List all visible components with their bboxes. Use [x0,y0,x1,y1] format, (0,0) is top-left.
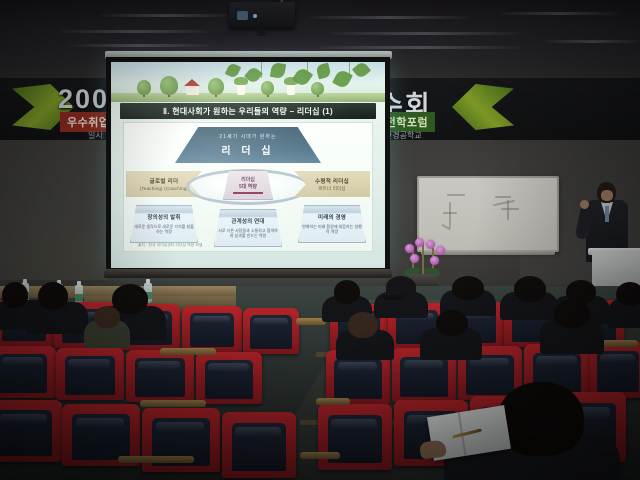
slide-core-box: 리더십 5대 역량 [223,170,273,200]
roof-subtitle: 21세기 시대가 원하는 [219,133,276,140]
orchid-bloom [436,246,445,255]
core-line-1: 리더십 [241,176,255,183]
armrest [316,398,350,405]
seat[interactable] [0,400,62,462]
side-box-right-sub: 파트너 리더십 [318,186,346,192]
seat[interactable] [243,308,299,354]
bottom-box-2-heading: 관계성의 연대 [231,217,264,225]
projector-mount [257,28,265,36]
whiteboard [417,176,559,252]
orchid-bloom [415,238,424,247]
projector-lens [237,11,248,20]
slide-bottom-row: 창의성의 발휘 새로운 생각으로 새로운 가치를 창출하는 역량 관계성의 연대… [124,199,372,243]
lecture-hall-photo: 200 수회 우수취업사례 공전학포럼 일시: 2009. 1 학교 한경공학교 [0,0,640,480]
slide-bottom-box-1: 창의성의 발휘 새로운 생각으로 새로운 가치를 창출하는 역량 [130,205,198,243]
seat[interactable] [222,412,296,478]
presenter-tie [605,206,609,222]
armrest [118,456,194,463]
screen-bottom-bar [104,269,392,278]
armrest [140,400,206,407]
orchid-bloom [426,240,435,249]
seat[interactable] [318,404,392,470]
core-line-2: 5대 역량 [239,183,257,190]
roof-heading: 리 더 십 [221,142,274,157]
bottom-box-2-sub: 서로 다른 사람들과 소통하고 협력하여 성과를 만드는 역량 [215,228,281,239]
slide-header-decoration [111,62,385,102]
slide-title: Ⅱ. 현대사회가 원하는 우리들의 역량 – 리더십 (1) [120,103,376,119]
seat[interactable] [182,306,242,352]
orchid-bloom [430,256,439,265]
presenter-face [601,190,613,201]
side-box-left-heading: 글로벌 리더 [150,177,179,185]
armrest [300,452,340,459]
side-box-right-heading: 수평적 리더십 [315,177,349,185]
core-underline [233,192,263,194]
ceiling-projector [229,2,295,28]
bottom-box-3-sub: 변화하는 미래 환경에 대응하는 실행적 역량 [299,224,365,235]
slide-roof-banner: 21세기 시대가 원하는 리 더 십 [175,127,321,163]
slide-middle-row: 글로벌 리더 (Teaching) (Coaching) 리더십 5대 역량 수… [124,167,372,201]
orchid-bloom [410,254,419,263]
slide-bottom-box-3: 미래의 경영 변화하는 미래 환경에 대응하는 실행적 역량 [298,205,366,243]
banner-year-text: 200 [58,84,109,115]
projection-screen: Ⅱ. 현대사회가 원하는 우리들의 역량 – 리더십 (1) 21세기 시대가 … [106,57,390,273]
baseball-cap [386,276,416,298]
seat[interactable] [196,352,262,404]
seat[interactable] [126,350,194,402]
bottom-box-1-heading: 창의성의 발휘 [147,213,180,221]
slide-bottom-box-2: 관계성의 연대 서로 다른 사람들과 소통하고 협력하여 성과를 만드는 역량 [214,209,282,247]
orchid-bloom [405,244,414,253]
seat[interactable] [0,346,56,398]
banner-logo-right [452,84,514,130]
side-box-left-sub: (Teaching) (Coaching) [140,186,188,191]
slide-body: 21세기 시대가 원하는 리 더 십 글로벌 리더 (Teaching) (Co… [123,122,373,252]
presenter-hand [580,200,589,209]
armrest [160,348,216,355]
wall-panel-left [0,130,108,280]
bottom-box-3-heading: 미래의 경영 [318,213,346,221]
seat[interactable] [56,348,124,400]
slide-footnote: 출처 : 한국 리더십센터 리더십 역량 모델 [138,243,203,248]
presentation-slide: Ⅱ. 현대사회가 원하는 우리들의 역량 – 리더십 (1) 21세기 시대가 … [111,62,385,268]
projector-status-led [253,14,257,18]
bottom-box-1-sub: 새로운 생각으로 새로운 가치를 창출하는 역량 [131,224,197,235]
